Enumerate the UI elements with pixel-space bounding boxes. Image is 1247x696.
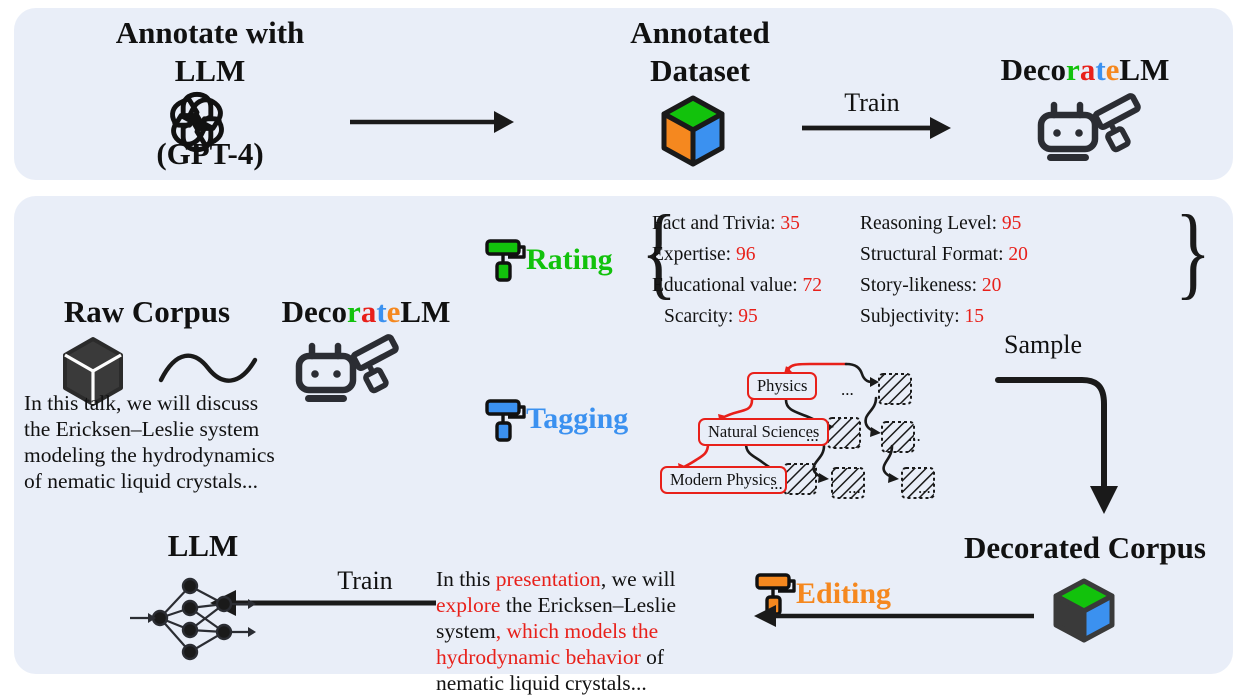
robot-paint-roller-icon-bottom	[290, 332, 400, 408]
robot-paint-roller-icon-top	[1032, 92, 1142, 166]
arrow-right-icon	[348, 104, 518, 140]
wave-line-icon	[158, 348, 258, 390]
neural-network-icon	[128, 572, 268, 664]
brand-letter-r: r	[1066, 52, 1080, 87]
rating-item-name: Subjectivity	[860, 306, 954, 327]
brand-prefix: Deco	[1001, 52, 1066, 87]
rating-item-name: Scarcity	[664, 306, 728, 327]
edited-corpus-text: In this presentation, we will explore th…	[436, 566, 736, 696]
dataset-heading-line2: Dataset	[560, 52, 840, 90]
tag-ellipsis: ...	[848, 478, 861, 498]
brand-letter-a-2: a	[361, 294, 377, 329]
annotate-heading-line1: Annotate with	[60, 14, 360, 52]
tagging-label: Tagging	[526, 402, 628, 436]
decoratelm-logo-top: DecorateLM	[960, 52, 1210, 88]
rating-item-name: Expertise	[652, 244, 726, 265]
rating-item-name: Fact and Trivia	[652, 213, 770, 234]
brand-suffix: LM	[1119, 52, 1169, 87]
annotate-heading: Annotate with LLM	[60, 14, 360, 90]
brand-prefix-2: Deco	[282, 294, 347, 329]
dataset-heading-line1: Annotated	[560, 14, 840, 52]
rating-item-value: 72	[803, 275, 823, 296]
cube-icon-decorated	[1052, 578, 1116, 644]
brand-letter-e-2: e	[387, 294, 401, 329]
brand-letter-a: a	[1080, 52, 1096, 87]
paint-roller-icon-rating	[484, 238, 528, 284]
rating-item-value: 96	[736, 244, 756, 265]
rating-item: Story-likeness: 20	[860, 270, 1028, 301]
rating-item-name: Educational value	[652, 275, 792, 296]
tag-ellipsis: ...	[770, 474, 783, 494]
rating-label: Rating	[526, 243, 613, 277]
arrow-left-icon-editing	[752, 602, 1036, 632]
rating-item-value: 35	[780, 213, 800, 234]
rating-item-value: 20	[982, 275, 1002, 296]
tag-ellipsis: ...	[841, 380, 854, 400]
brand-letter-t: t	[1095, 52, 1105, 87]
tag-node-physics[interactable]: Physics	[747, 372, 817, 400]
rating-item: Educational value: 72	[652, 270, 822, 301]
tag-ellipsis: ...	[806, 426, 819, 446]
rating-item-name: Story-likeness	[860, 275, 972, 296]
rating-brace-right: }	[1175, 200, 1211, 304]
tag-ellipsis: ...	[918, 478, 931, 498]
llm-title: LLM	[108, 528, 298, 564]
rating-item-value: 95	[738, 306, 758, 327]
raw-corpus-text: In this talk, we will discuss the Ericks…	[24, 390, 279, 494]
brand-letter-e: e	[1106, 52, 1120, 87]
rating-item-name: Structural Format	[860, 244, 998, 265]
edited-span-plain: , we will	[601, 567, 676, 591]
rating-item: Expertise: 96	[652, 239, 822, 270]
brand-suffix-2: LM	[400, 294, 450, 329]
decorated-corpus-title: Decorated Corpus	[940, 530, 1230, 566]
tag-ellipsis: ...	[908, 426, 921, 446]
rating-item: Reasoning Level: 95	[860, 208, 1028, 239]
rating-item: Structural Format: 20	[860, 239, 1028, 270]
raw-corpus-title: Raw Corpus	[22, 294, 272, 330]
tag-node-modern-physics[interactable]: Modern Physics	[660, 466, 787, 494]
annotated-dataset-heading: Annotated Dataset	[560, 14, 840, 90]
brand-letter-r-2: r	[347, 294, 361, 329]
rating-item: Scarcity: 95	[652, 301, 822, 332]
cube-icon	[660, 95, 726, 169]
rating-item-value: 15	[965, 306, 985, 327]
edited-span-highlight: presentation	[496, 567, 601, 591]
rating-item: Fact and Trivia: 35	[652, 208, 822, 239]
paint-roller-icon-tagging	[484, 398, 528, 444]
edited-span-plain: In this	[436, 567, 496, 591]
edited-span-highlight: explore	[436, 593, 500, 617]
elbow-arrow-down-icon	[994, 378, 1134, 518]
brand-letter-t-2: t	[376, 294, 386, 329]
annotate-heading-line2: LLM	[60, 52, 360, 90]
rating-item: Subjectivity: 15	[860, 301, 1028, 332]
rating-item-value: 95	[1002, 213, 1022, 234]
rating-item-name: Reasoning Level	[860, 213, 992, 234]
sample-label: Sample	[1004, 330, 1164, 360]
gpt4-label: (GPT-4)	[60, 136, 360, 172]
rating-left-column: Fact and Trivia: 35 Expertise: 96 Educat…	[652, 208, 822, 332]
rating-right-column: Reasoning Level: 95 Structural Format: 2…	[860, 208, 1028, 332]
rating-item-value: 20	[1008, 244, 1028, 265]
decoratelm-logo-bottom: DecorateLM	[248, 294, 484, 330]
arrow-right-icon-train	[800, 110, 955, 146]
